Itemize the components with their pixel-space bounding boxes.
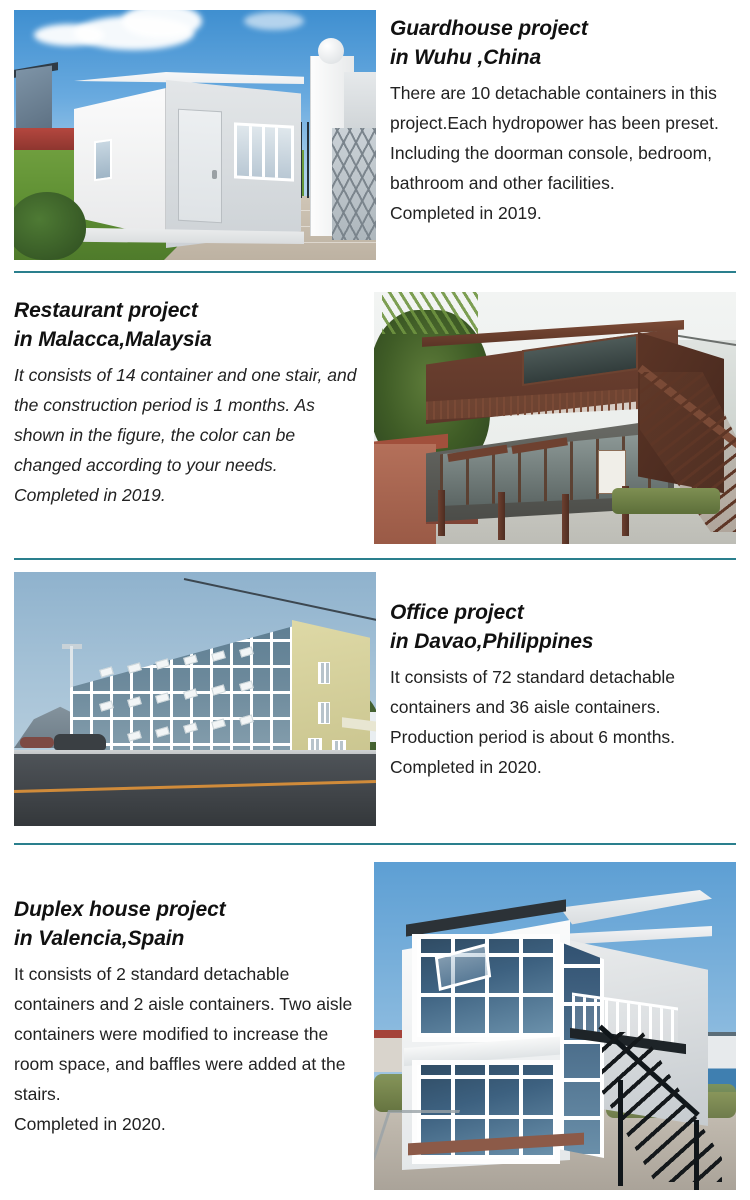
support-column	[438, 490, 445, 536]
project-heading-line1: Restaurant project	[14, 296, 362, 325]
front-window	[234, 122, 294, 181]
project-completed: Completed in 2020.	[14, 1109, 362, 1139]
support-column	[562, 494, 569, 544]
duplex-house	[402, 884, 702, 1174]
section-divider	[14, 558, 736, 560]
folding-fence	[332, 128, 376, 240]
restaurant-building	[426, 314, 696, 512]
container-door	[178, 109, 222, 224]
project-completed: Completed in 2019.	[390, 198, 736, 228]
project-heading-line2: in Davao,Philippines	[390, 627, 736, 656]
project-description: It consists of 72 standard detachable co…	[390, 662, 736, 752]
project-heading-line2: in Wuhu ,China	[390, 43, 736, 72]
yellow-end-wall	[292, 620, 370, 768]
project-image-restaurant	[374, 292, 736, 544]
corner-glazing	[560, 942, 604, 1158]
project-heading-line2: in Malacca,Malaysia	[14, 325, 362, 354]
project-heading-line2: in Valencia,Spain	[14, 924, 362, 953]
project-heading-line1: Office project	[390, 598, 736, 627]
project-heading-line1: Guardhouse project	[390, 14, 736, 43]
project-image-office	[14, 572, 376, 826]
project-image-guardhouse	[14, 10, 376, 260]
stair-post	[694, 1120, 699, 1190]
section-divider	[14, 843, 736, 845]
roof-canopy	[560, 890, 712, 930]
pillar-sphere	[318, 38, 344, 64]
project-image-duplex	[374, 862, 736, 1190]
project-description: It consists of 14 container and one stai…	[14, 360, 362, 480]
project-text-guardhouse: Guardhouse project in Wuhu ,China There …	[390, 14, 736, 228]
project-text-office: Office project in Davao,Philippines It c…	[390, 598, 736, 782]
cloud-icon	[244, 12, 304, 30]
projects-page: Guardhouse project in Wuhu ,China There …	[0, 0, 750, 1200]
project-heading-line1: Duplex house project	[14, 895, 362, 924]
container-left-side	[74, 88, 166, 238]
project-completed: Completed in 2019.	[14, 480, 362, 510]
cloud-icon	[34, 24, 104, 46]
stair-post	[618, 1080, 623, 1186]
support-column	[498, 492, 505, 540]
project-description: There are 10 detachable containers in th…	[390, 78, 736, 198]
hedge	[612, 488, 720, 514]
door-handle	[212, 170, 217, 179]
project-text-duplex: Duplex house project in Valencia,Spain I…	[14, 895, 362, 1139]
guardhouse-container	[74, 62, 306, 240]
project-description: It consists of 2 standard detachable con…	[14, 959, 362, 1109]
side-window	[94, 139, 112, 182]
project-text-restaurant: Restaurant project in Malacca,Malaysia I…	[14, 296, 362, 510]
section-divider	[14, 271, 736, 273]
parked-car	[20, 737, 54, 748]
project-completed: Completed in 2020.	[390, 752, 736, 782]
shrub	[14, 192, 86, 260]
parked-car	[54, 734, 106, 750]
